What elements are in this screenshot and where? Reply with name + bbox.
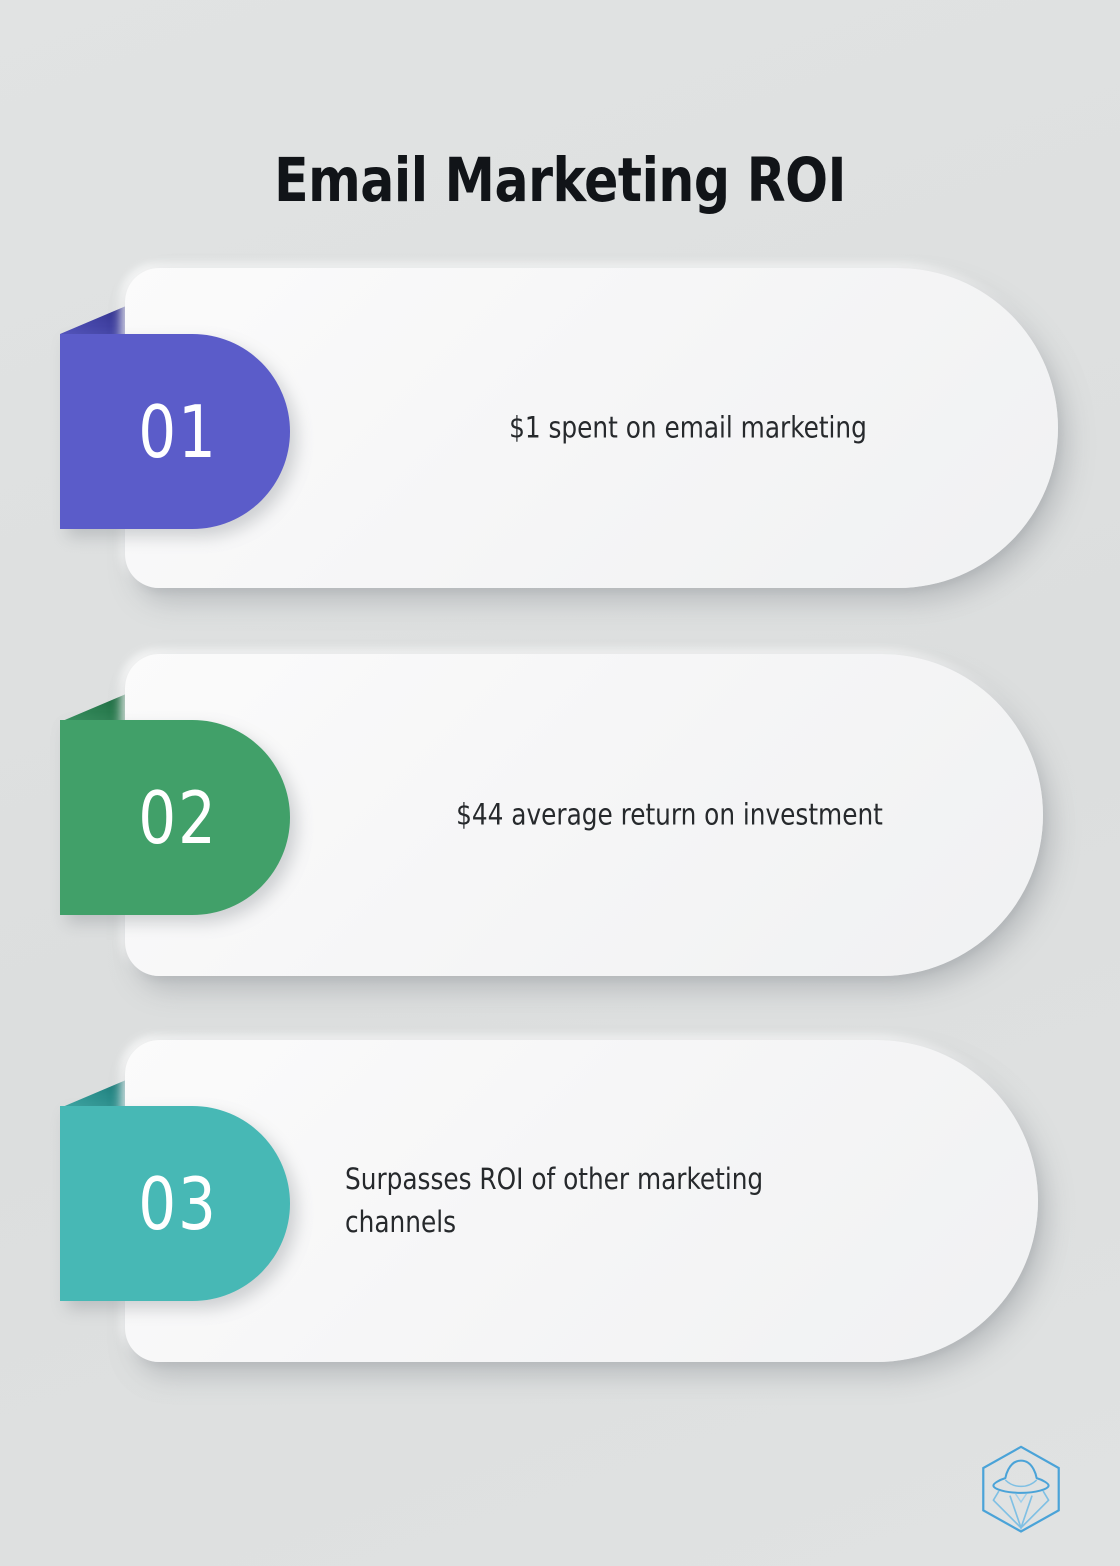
page-title: Email Marketing ROI	[45, 145, 1075, 217]
step-badge-03[interactable]: 03	[60, 1106, 290, 1301]
step-number: 02	[132, 782, 217, 854]
ribbon-fold-top-icon	[60, 306, 126, 334]
card-text: $44 average return on investment	[375, 794, 964, 837]
step-number: 03	[132, 1168, 217, 1240]
list-item: $44 average return on investment 02	[0, 654, 1120, 976]
infographic-canvas: Email Marketing ROI	[0, 0, 1120, 1566]
step-badge-01[interactable]: 01	[60, 334, 290, 529]
list-item: Surpasses ROI of other marketing channel…	[0, 1040, 1120, 1362]
ribbon-fold-top-icon	[60, 694, 126, 722]
list-item: $1 spent on email marketing 01	[0, 268, 1120, 588]
step-number: 01	[132, 396, 217, 468]
card-text: Surpasses ROI of other marketing channel…	[345, 1158, 877, 1244]
detective-hexagon-logo-icon[interactable]	[975, 1443, 1067, 1539]
card-text: $1 spent on email marketing	[403, 407, 973, 450]
ribbon-fold-top-icon	[60, 1080, 126, 1108]
step-badge-02[interactable]: 02	[60, 720, 290, 915]
